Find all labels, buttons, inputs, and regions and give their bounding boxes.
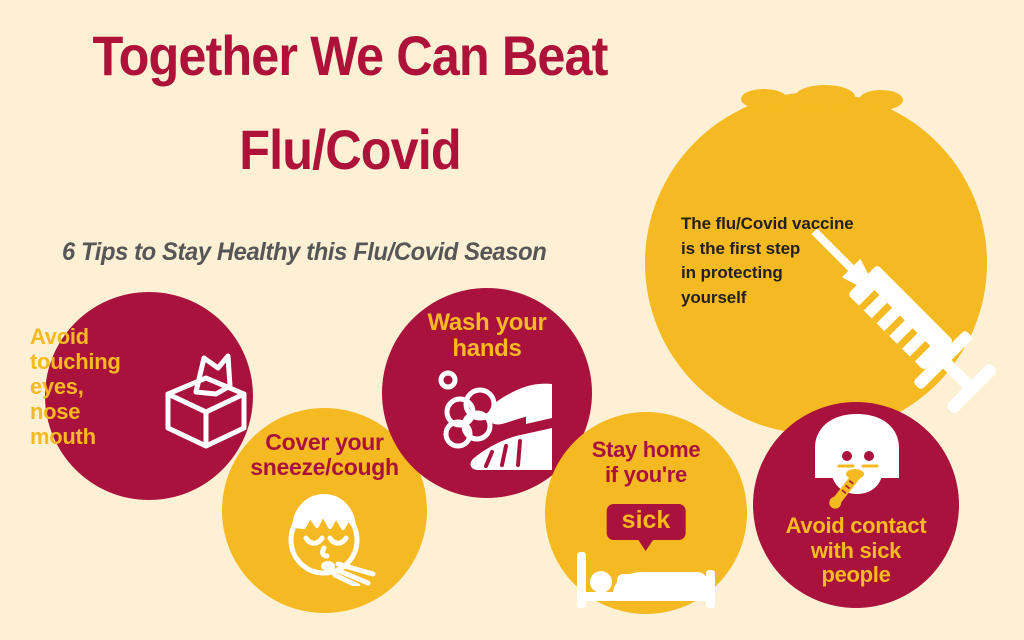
circle-edge-nub [859, 90, 903, 110]
tip-label-avoid-contact: Avoid contact with sick people [753, 514, 959, 588]
syringe-icon [765, 182, 1015, 432]
vaccine-callout-circle: The flu/Covid vaccine is the first step … [645, 92, 987, 434]
page-title-line-2: Flu/Covid [35, 122, 665, 178]
bed-icon [577, 552, 715, 608]
tip-circle-stay-home: Stay home if you're sick [545, 412, 747, 614]
washing-hands-icon [430, 366, 552, 476]
infographic-poster: Together We Can Beat Flu/Covid 6 Tips to… [0, 0, 1024, 640]
page-title-line-1: Together We Can Beat [35, 28, 665, 84]
tip-label-wash-hands: Wash your hands [382, 310, 592, 363]
page-subtitle: 6 Tips to Stay Healthy this Flu/Covid Se… [62, 238, 546, 267]
sick-person-thermometer-icon [809, 412, 905, 514]
tip-circle-avoid-contact: Avoid contact with sick people [753, 402, 959, 608]
circle-edge-nub [741, 89, 787, 109]
circle-edge-nub [795, 85, 855, 109]
sick-speech-bubble-badge: sick [607, 504, 686, 540]
sneezing-face-icon [278, 486, 378, 586]
tip-label-stay-home: Stay home if you're [545, 438, 747, 487]
